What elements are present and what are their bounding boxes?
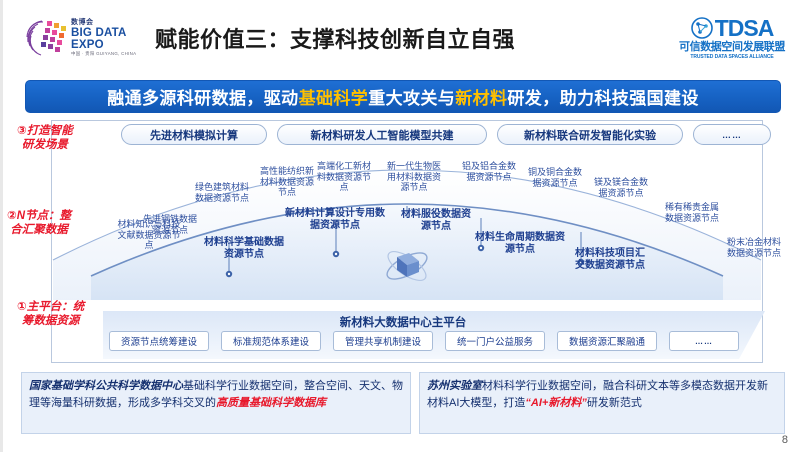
node-label-14: 材料生命周期数据资源节点 (473, 232, 567, 255)
expo-logo-en2: EXPO (71, 39, 136, 51)
caption-platform-layer: ①主平台：统 筹数据资源 (17, 300, 84, 328)
scenario-pill-1[interactable]: 新材料研发人工智能模型共建 (277, 124, 487, 145)
bigdata-expo-logo: 数博会 BIG DATA EXPO 中国 · 贵阳 GUIYANG, CHINA (25, 16, 145, 60)
key-message-banner: 融通多源科研数据，驱动基础科学重大攻关与新材料研发，助力科技强国建设 (25, 80, 781, 113)
expo-logo-text: 数博会 BIG DATA EXPO 中国 · 贵阳 GUIYANG, CHINA (71, 19, 136, 57)
node-label-4: 高端化工新材料数据资源节点 (316, 161, 372, 193)
page-number: 8 (782, 434, 788, 446)
expo-logo-en1: BIG DATA (71, 27, 136, 39)
note-right-text2: 研发新范式 (587, 397, 642, 409)
main-platform-band: 新材料大数据中心主平台 资源节点统筹建设标准规范体系建设管理共享机制建设统一门户… (103, 311, 765, 359)
platform-chip-row: 资源节点统筹建设标准规范体系建设管理共享机制建设统一门户公益服务数据资源汇聚融通… (109, 331, 759, 353)
tdsa-logo-cn: 可信数据空间发展联盟 (673, 41, 791, 54)
tdsa-wordmark: TDSA (715, 16, 774, 40)
banner-part-3: 研发，助力科技强国建设 (507, 89, 698, 108)
scenario-pill-2[interactable]: 新材料联合研发智能化实验 (497, 124, 683, 145)
note-national-data-center: 国家基础学科公共科学数据中心基础科学行业数据空间，整合空间、天文、物理等海量科研… (21, 372, 411, 434)
platform-chip-0[interactable]: 资源节点统筹建设 (109, 331, 209, 351)
caption-scenario-layer: ③打造智能 研发场景 (17, 124, 73, 152)
tdsa-network-icon (691, 17, 713, 39)
node-label-3: 高性能纺织新材料数据资源节点 (258, 166, 316, 198)
banner-highlight-1: 基础科学 (299, 89, 369, 108)
slide-header: 数博会 BIG DATA EXPO 中国 · 贵阳 GUIYANG, CHINA… (3, 0, 800, 74)
slide-root: 数博会 BIG DATA EXPO 中国 · 贵阳 GUIYANG, CHINA… (0, 0, 800, 452)
node-label-10: 粉末冶金材料数据资源节点 (725, 237, 783, 258)
page-title: 赋能价值三：支撑科技创新自立自强 (155, 22, 515, 54)
expo-logo-cn: 数博会 (71, 19, 136, 27)
note-suzhou-lab: 苏州实验室材料科学行业数据空间，融合科研文本等多模态数据开发新材料AI大模型，打… (419, 372, 785, 434)
scenario-pill-row: 先进材料模拟计算新材料研发人工智能模型共建新材料联合研发智能化实验…… (121, 124, 771, 146)
node-label-7: 铜及铜合金数据资源节点 (527, 167, 583, 188)
scenario-pill-0[interactable]: 先进材料模拟计算 (121, 124, 267, 145)
note-right-bold: 苏州实验室 (427, 380, 482, 392)
banner-highlight-2: 新材料 (455, 89, 507, 108)
node-label-15: 材料科技项目汇交数据资源节点 (573, 248, 647, 271)
tdsa-logo: TDSA 可信数据空间发展联盟 TRUSTED DATA SPACES ALLI… (673, 16, 791, 64)
expo-spiral-icon (25, 18, 69, 58)
node-label-1: 先进钢铁数据资源节点 (139, 214, 201, 235)
banner-text: 融通多源科研数据，驱动基础科学重大攻关与新材料研发，助力科技强国建设 (107, 84, 699, 109)
platform-chip-4[interactable]: 数据资源汇聚融通 (557, 331, 657, 351)
node-label-13: 材料服役数据资源节点 (397, 209, 475, 232)
node-label-11: 材料科学基础数据资源节点 (201, 237, 287, 260)
platform-chip-5[interactable]: …… (669, 331, 739, 351)
note-left-red: 高质量基础科学数据库 (216, 397, 326, 409)
caption-node-layer: ②N节点：整 合汇聚数据 (7, 209, 71, 237)
note-right-red: “AI+新材料” (525, 397, 586, 409)
ellipsis-icon: …… (695, 337, 713, 346)
platform-title: 新材料大数据中心主平台 (103, 314, 703, 330)
caption-platform-line1: ①主平台：统 (17, 300, 84, 314)
ellipsis-icon: …… (722, 130, 742, 140)
caption-platform-line2: 筹数据资源 (17, 314, 84, 328)
node-label-6: 铝及铝合金数据资源节点 (461, 161, 517, 182)
caption-scenario-line2: 研发场景 (17, 138, 73, 152)
platform-chip-1[interactable]: 标准规范体系建设 (221, 331, 321, 351)
caption-node-line1: ②N节点：整 (7, 209, 71, 223)
node-label-5: 新一代生物医用材料数据资源节点 (385, 161, 443, 193)
platform-chip-3[interactable]: 统一门户公益服务 (445, 331, 545, 351)
scenario-pill-3[interactable]: …… (693, 124, 771, 145)
banner-part-1: 融通多源科研数据，驱动 (107, 89, 298, 108)
caption-scenario-line1: ③打造智能 (17, 124, 73, 138)
expo-logo-sub: 中国 · 贵阳 GUIYANG, CHINA (71, 51, 136, 57)
platform-chip-2[interactable]: 管理共享机制建设 (333, 331, 433, 351)
node-label-8: 镁及镁合金数据资源节点 (593, 177, 649, 198)
note-left-bold: 国家基础学科公共科学数据中心 (29, 380, 183, 392)
node-label-12: 新材料计算设计专用数据资源节点 (281, 208, 389, 231)
banner-part-2: 重大攻关与 (368, 89, 455, 108)
tdsa-logo-en: TRUSTED DATA SPACES ALLIANCE (673, 54, 791, 61)
node-label-2: 绿色建筑材料数据资源节点 (193, 182, 251, 203)
node-label-9: 稀有稀贵金属数据资源节点 (663, 202, 721, 223)
caption-node-line2: 合汇聚数据 (7, 223, 71, 237)
